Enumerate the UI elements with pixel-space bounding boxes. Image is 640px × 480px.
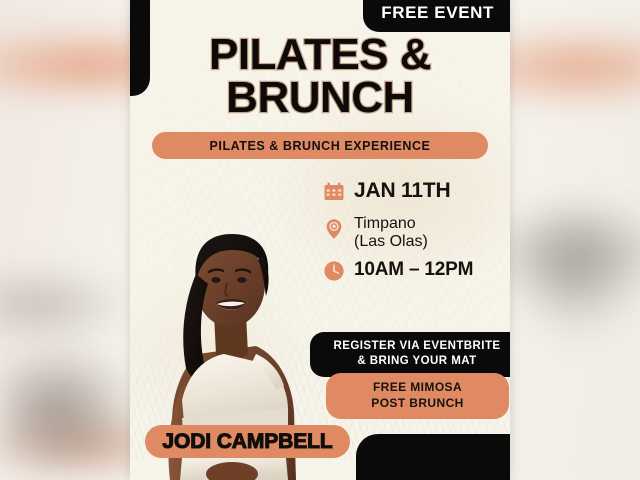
subtitle-pill: PILATES & BRUNCH EXPERIENCE xyxy=(152,132,488,159)
detail-value-date: JAN 11TH xyxy=(354,180,450,201)
event-details: JAN 11TH Timpano (Las Olas) xyxy=(322,178,507,294)
screenshot-stage: FREE EVENT PILATES & BRUNCH PILATES & BR… xyxy=(0,0,640,480)
page-title: PILATES & BRUNCH xyxy=(130,34,510,119)
detail-row-location: Timpano (Las Olas) xyxy=(322,215,507,251)
page-title-line-2: BRUNCH xyxy=(130,77,510,120)
register-callout: REGISTER VIA EVENTBRITE & BRING YOUR MAT xyxy=(310,332,510,377)
detail-row-date: JAN 11TH xyxy=(322,178,507,209)
clock-icon xyxy=(322,259,346,288)
detail-value-location: Timpano (Las Olas) xyxy=(354,215,428,251)
detail-value-time: 10AM – 12PM xyxy=(354,260,473,279)
decorative-black-block-bottom-right xyxy=(356,434,510,480)
detail-location-area: (Las Olas) xyxy=(354,233,428,250)
instructor-name-pill: JODI CAMPBELL xyxy=(145,425,350,458)
blurred-backdrop-shadow-left xyxy=(0,300,150,480)
mimosa-line-2: POST BRUNCH xyxy=(371,396,463,410)
mimosa-line-1: FREE MIMOSA xyxy=(373,380,462,394)
event-poster: FREE EVENT PILATES & BRUNCH PILATES & BR… xyxy=(130,0,510,480)
location-pin-icon xyxy=(322,217,346,246)
page-title-line-1: PILATES & xyxy=(209,30,431,79)
mimosa-pill: FREE MIMOSA POST BRUNCH xyxy=(326,373,509,419)
register-line-2: & BRING YOUR MAT xyxy=(357,355,476,367)
free-event-badge: FREE EVENT xyxy=(363,0,510,32)
detail-location-venue: Timpano xyxy=(354,215,416,232)
register-line-1: REGISTER VIA EVENTBRITE xyxy=(333,340,500,352)
detail-row-time: 10AM – 12PM xyxy=(322,257,507,288)
calendar-icon xyxy=(322,180,346,209)
